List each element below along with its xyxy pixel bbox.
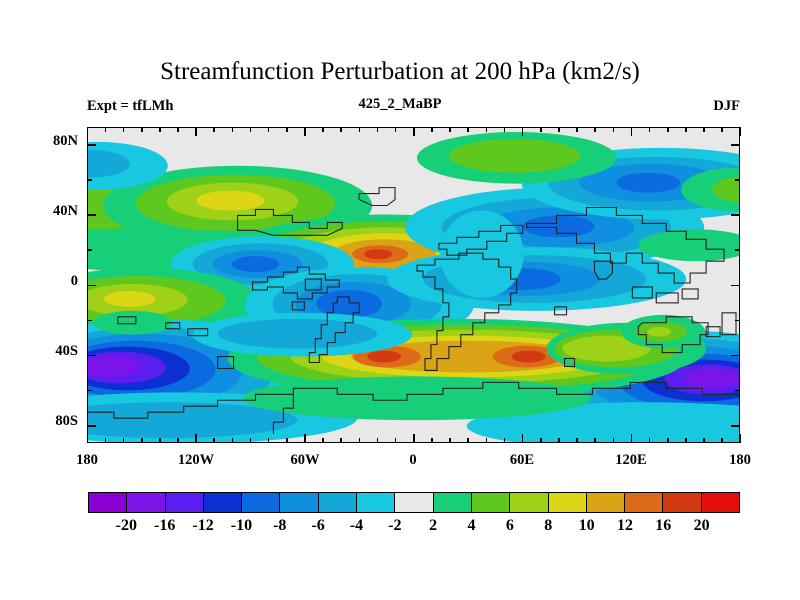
- ytick-label-80s: 80S: [28, 413, 78, 430]
- ytick--20: [87, 320, 92, 322]
- xtick-label-120e: 120E: [596, 452, 666, 469]
- ytick-right-0: [731, 285, 740, 287]
- ytick-right-40: [731, 214, 740, 216]
- xtick-top-140: [667, 127, 669, 132]
- xtick-top-80: [558, 127, 560, 132]
- colorbar-swatch-13: [587, 493, 625, 512]
- xtick-top--100: [232, 127, 234, 132]
- ytick-right-60: [735, 179, 740, 181]
- contour-band-south-atlantic-cyan: [193, 313, 412, 357]
- xtick-top-30: [467, 127, 469, 132]
- season-label: DJF: [713, 98, 740, 115]
- xtick--150: [141, 438, 143, 443]
- xtick-label-180w: 180: [52, 452, 122, 469]
- xtick-top--40: [340, 127, 342, 132]
- ytick-0: [87, 285, 96, 287]
- xtick-top--70: [286, 127, 288, 132]
- xtick-40: [486, 438, 488, 443]
- xtick--100: [232, 438, 234, 443]
- contour-bands-group: [88, 128, 739, 442]
- ytick-label-40n: 40N: [28, 203, 78, 220]
- xtick-top--80: [268, 127, 270, 132]
- xtick-30: [467, 438, 469, 443]
- xtick-label-120w: 120W: [161, 452, 231, 469]
- colorbar-swatch-11: [510, 493, 548, 512]
- contour-blob-arabian-low: [387, 247, 686, 311]
- xtick-top--160: [123, 127, 125, 132]
- xtick-60: [522, 434, 524, 443]
- xtick--30: [359, 438, 361, 443]
- xtick-80: [558, 438, 560, 443]
- contour-blob-siberia-green: [417, 132, 616, 184]
- xtick-20: [449, 438, 451, 443]
- colorbar-swatch-5: [280, 493, 318, 512]
- xtick-top-60: [522, 127, 524, 136]
- colorbar-swatch-0: [89, 493, 127, 512]
- colorbar-swatch-10: [472, 493, 510, 512]
- xtick--10: [395, 438, 397, 443]
- contour-blob-south-pacific-green: [93, 311, 173, 335]
- xtick--40: [340, 438, 342, 443]
- xtick-top-0: [413, 127, 415, 136]
- ytick-right--80: [731, 425, 740, 427]
- xtick-150: [685, 438, 687, 443]
- ytick-right-80: [731, 144, 740, 146]
- colorbar-swatch-9: [434, 493, 472, 512]
- colorbar-swatch-16: [702, 493, 739, 512]
- ytick-60: [87, 179, 92, 181]
- xtick-130: [649, 438, 651, 443]
- xtick-top-70: [540, 127, 542, 132]
- xtick-top--10: [395, 127, 397, 132]
- ytick-label-0: 0: [28, 273, 78, 290]
- xtick-top-40: [486, 127, 488, 132]
- xtick-top-160: [703, 127, 705, 132]
- xtick--180: [87, 434, 89, 443]
- colorbar-swatch-7: [357, 493, 395, 512]
- xtick--20: [377, 438, 379, 443]
- xtick-top--120: [195, 127, 197, 136]
- contour-field-svg: [88, 128, 739, 442]
- xtick-90: [576, 438, 578, 443]
- xtick-top--130: [177, 127, 179, 132]
- colorbar-swatch-15: [663, 493, 701, 512]
- xtick-top-150: [685, 127, 687, 132]
- ytick-40: [87, 214, 96, 216]
- run-id-label: 425_2_MaBP: [0, 96, 800, 113]
- colorbar-swatch-4: [242, 493, 280, 512]
- xtick-top-130: [649, 127, 651, 132]
- ytick-80: [87, 144, 96, 146]
- xtick--110: [213, 438, 215, 443]
- xtick-50: [504, 438, 506, 443]
- xtick-label-60w: 60W: [270, 452, 340, 469]
- xtick-top-50: [504, 127, 506, 132]
- colorbar-swatch-6: [319, 493, 357, 512]
- ytick-label-40s: 40S: [28, 343, 78, 360]
- xtick-top-20: [449, 127, 451, 132]
- xtick-top--110: [213, 127, 215, 132]
- xtick-top--20: [377, 127, 379, 132]
- ytick--60: [87, 390, 92, 392]
- xtick-top--60: [304, 127, 306, 136]
- xtick--60: [304, 434, 306, 443]
- xtick-top--50: [322, 127, 324, 132]
- xtick-top--90: [250, 127, 252, 132]
- xtick-120: [631, 434, 633, 443]
- colorbar-swatch-1: [127, 493, 165, 512]
- xtick-label-180e: 180: [705, 452, 775, 469]
- ytick-20: [87, 249, 92, 251]
- xtick--140: [159, 438, 161, 443]
- xtick--70: [286, 438, 288, 443]
- ytick-right--40: [731, 355, 740, 357]
- xtick-140: [667, 438, 669, 443]
- xtick-100: [594, 438, 596, 443]
- colorbar-label-15: 20: [677, 517, 727, 535]
- ytick--40: [87, 355, 96, 357]
- xtick-top--140: [159, 127, 161, 132]
- ytick-right--20: [735, 320, 740, 322]
- xtick-top-170: [721, 127, 723, 132]
- xtick-top-110: [613, 127, 615, 132]
- xtick-label-0: 0: [378, 452, 448, 469]
- ytick-label-80n: 80N: [28, 133, 78, 150]
- colorbar: [88, 492, 740, 513]
- xtick--50: [322, 438, 324, 443]
- xtick--160: [123, 438, 125, 443]
- page-title: Streamfunction Perturbation at 200 hPa (…: [0, 58, 800, 86]
- colorbar-swatch-8: [395, 493, 433, 512]
- xtick-180: [740, 434, 742, 443]
- xtick-110: [613, 438, 615, 443]
- xtick-70: [540, 438, 542, 443]
- xtick--80: [268, 438, 270, 443]
- colorbar-swatch-2: [166, 493, 204, 512]
- xtick-160: [703, 438, 705, 443]
- xtick-top-180: [740, 127, 742, 136]
- xtick-10: [431, 438, 433, 443]
- xtick--170: [105, 438, 107, 443]
- colorbar-swatch-12: [549, 493, 587, 512]
- xtick-top-10: [431, 127, 433, 132]
- colorbar-swatch-14: [625, 493, 663, 512]
- xtick-top--30: [359, 127, 361, 132]
- colorbar-swatch-3: [204, 493, 242, 512]
- xtick-top-90: [576, 127, 578, 132]
- ytick-right--60: [735, 390, 740, 392]
- xtick-top-100: [594, 127, 596, 132]
- xtick--130: [177, 438, 179, 443]
- xtick--120: [195, 434, 197, 443]
- xtick-top-120: [631, 127, 633, 136]
- contour-map-plot: [87, 127, 740, 443]
- xtick-0: [413, 434, 415, 443]
- contour-band-antarctic-green: [243, 376, 592, 420]
- contour-bridge-cyan-africa: [440, 210, 524, 297]
- xtick-top--180: [87, 127, 89, 136]
- xtick--90: [250, 438, 252, 443]
- xtick-label-60e: 60E: [487, 452, 557, 469]
- xtick-top--170: [105, 127, 107, 132]
- ytick-right-20: [735, 249, 740, 251]
- xtick-top--150: [141, 127, 143, 132]
- xtick-170: [721, 438, 723, 443]
- ytick--80: [87, 425, 96, 427]
